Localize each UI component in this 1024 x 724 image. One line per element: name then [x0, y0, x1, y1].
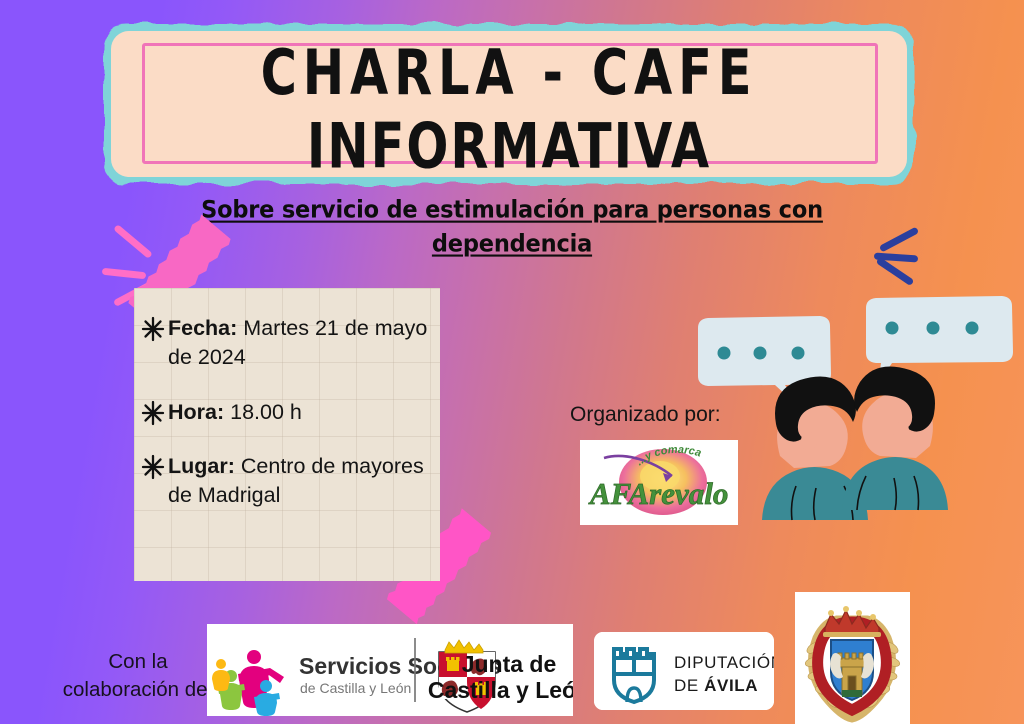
detail-item-hora: Hora: 18.00 h: [138, 398, 430, 427]
details-list: Fecha: Martes 21 de mayo de 2024: [138, 314, 430, 510]
diputacion-line-2: DE ÁVILA: [674, 676, 758, 695]
bubble-dot: [792, 347, 805, 360]
bubble-dot: [886, 322, 899, 335]
sparkle-line-right-1: [879, 227, 919, 253]
poster-canvas: CHARLA - CAFE INFORMATIVA Sobre servicio…: [0, 0, 1024, 724]
servicios-sociales-junta-logo-box: Servicios Sociales de Castilla y León: [207, 624, 573, 716]
bubble-dot: [754, 347, 767, 360]
junta-line-1: Junta de: [462, 651, 557, 677]
title-banner: CHARLA - CAFE INFORMATIVA: [104, 24, 914, 184]
diputacion-line-1: DIPUTACIÓN: [674, 653, 774, 672]
bubble-dot: [966, 322, 979, 335]
title-line-1: CHARLA - CAFE: [116, 38, 902, 111]
subtitle: Sobre servicio de estimulación para pers…: [152, 194, 872, 262]
conversation-illustration: [680, 296, 1024, 546]
collaboration-label: Con la colaboración de:: [58, 648, 218, 704]
detail-value-hora: 18.00 h: [230, 400, 302, 424]
detail-item-fecha: Fecha: Martes 21 de mayo de 2024: [138, 314, 430, 372]
asterisk-starburst-icon: [138, 400, 168, 426]
subtitle-text: Sobre servicio de estimulación para pers…: [201, 196, 823, 257]
person-right: [842, 366, 948, 510]
detail-text-fecha: Fecha: Martes 21 de mayo de 2024: [168, 314, 430, 372]
bubble-dot: [718, 347, 731, 360]
detail-text-hora: Hora: 18.00 h: [168, 398, 430, 427]
asterisk-starburst-icon: [138, 316, 168, 342]
page-title: CHARLA - CAFE INFORMATIVA: [116, 38, 902, 185]
detail-label-hora: Hora:: [168, 400, 224, 424]
diputacion-de-avila-logo-box: DIPUTACIÓN DE ÁVILA: [594, 632, 774, 710]
detail-item-lugar: Lugar: Centro de mayores de Madrigal: [138, 452, 430, 510]
asterisk-starburst-icon: [138, 454, 168, 480]
title-line-2: INFORMATIVA: [116, 111, 902, 184]
avila-coat-of-arms-box: [795, 592, 910, 724]
sparkle-line-left-2: [102, 268, 146, 280]
collaboration-label-line1: Con la: [58, 648, 218, 676]
detail-label-lugar: Lugar:: [168, 454, 235, 478]
detail-label-fecha: Fecha:: [168, 316, 237, 340]
sparkle-line-left-1: [113, 224, 153, 259]
junta-line-2: Castilla y León: [428, 677, 573, 703]
servicios-sociales-subtitle: de Castilla y León: [300, 680, 411, 696]
collaboration-label-line2: colaboración de:: [58, 676, 218, 704]
detail-text-lugar: Lugar: Centro de mayores de Madrigal: [168, 452, 430, 510]
details-card: Fecha: Martes 21 de mayo de 2024: [134, 288, 440, 581]
bubble-dot: [927, 322, 940, 335]
